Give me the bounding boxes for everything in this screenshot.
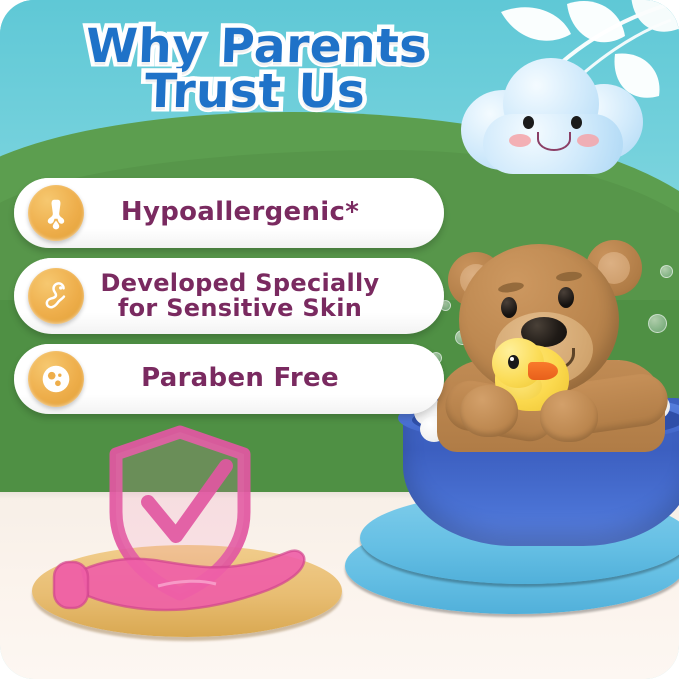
infographic-canvas: Why Parents Trust Us Hypoallergenic*: [0, 0, 679, 679]
smiling-cloud: [455, 48, 655, 178]
benefit-label: Developed Specially for Sensitive Skin: [84, 271, 430, 321]
benefit-badge-hypoallergenic[interactable]: Hypoallergenic*: [14, 178, 444, 248]
bear-paw-left: [460, 385, 518, 437]
cloud-eye-left: [523, 116, 534, 129]
bear-eye-right: [558, 287, 574, 308]
bear-eye-left: [501, 297, 517, 318]
benefit-line: Hypoallergenic*: [84, 199, 396, 226]
benefit-label: Hypoallergenic*: [84, 199, 430, 226]
benefit-badge-sensitive-skin[interactable]: Developed Specially for Sensitive Skin: [14, 258, 444, 334]
baby-fetus-icon: [28, 268, 84, 324]
soap-bubble: [660, 265, 673, 278]
pink-hand-with-shield: [30, 420, 340, 650]
molecule-dots-icon: [28, 351, 84, 407]
cloud-cheek-left: [509, 134, 531, 147]
benefit-line: Developed Specially: [84, 271, 396, 296]
hand-shield-illustration: [30, 420, 340, 650]
nose-drop-icon: [28, 185, 84, 241]
cloud-eye-right: [571, 116, 582, 129]
benefit-badge-paraben-free[interactable]: Paraben Free: [14, 344, 444, 414]
cloud-cheek-right: [577, 134, 599, 147]
rubber-duck-eye: [508, 355, 519, 369]
page-title: Why Parents Trust Us: [54, 24, 457, 114]
rubber-duck-beak: [528, 362, 558, 380]
benefit-badge-list: Hypoallergenic* Developed Specially for …: [14, 178, 444, 424]
benefit-label: Paraben Free: [84, 365, 430, 392]
benefit-line: Paraben Free: [84, 365, 396, 392]
bear-paw-right: [540, 390, 598, 442]
title-line-2: Trust Us: [54, 69, 456, 114]
soap-bubble: [648, 314, 667, 333]
benefit-line: for Sensitive Skin: [84, 296, 396, 321]
